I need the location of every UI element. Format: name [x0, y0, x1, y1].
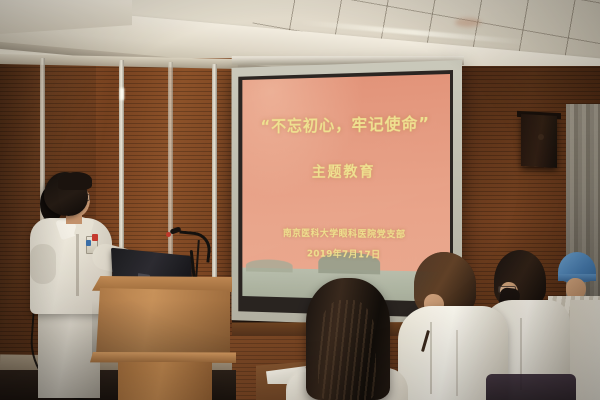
podium-shading: [92, 300, 230, 358]
podium-pedestal: [118, 362, 212, 400]
microphone-indicator: [166, 232, 171, 237]
slide-date: 2019年7月17日: [307, 246, 381, 261]
attendee-hair-highlights: [318, 300, 376, 400]
speaker-cone: [538, 134, 544, 140]
mullion-glint: [120, 88, 124, 100]
slide-title: “不忘初心，牢记使命”: [261, 110, 430, 136]
badge-blue-marker: [86, 240, 91, 246]
presenter-garment-shadow: [38, 306, 100, 398]
coat-fold: [456, 330, 458, 396]
coat-fold: [430, 322, 432, 394]
conference-room-photo: “不忘初心，牢记使命” 主题教育 南京医科大学眼科医院党支部 2019年7月17…: [0, 0, 600, 400]
wall-speaker-box: [521, 114, 557, 168]
presenter-coat-placket: [76, 234, 79, 296]
presenter-left-arm: [30, 244, 56, 284]
chair-back: [486, 374, 576, 400]
ceiling-stain: [455, 18, 481, 27]
slide-subtitle: 主题教育: [312, 161, 376, 182]
presenter-hair-fringe: [58, 172, 92, 190]
slide-organization: 南京医科大学眼科医院党支部: [283, 225, 406, 240]
badge-red-marker: [92, 234, 98, 241]
